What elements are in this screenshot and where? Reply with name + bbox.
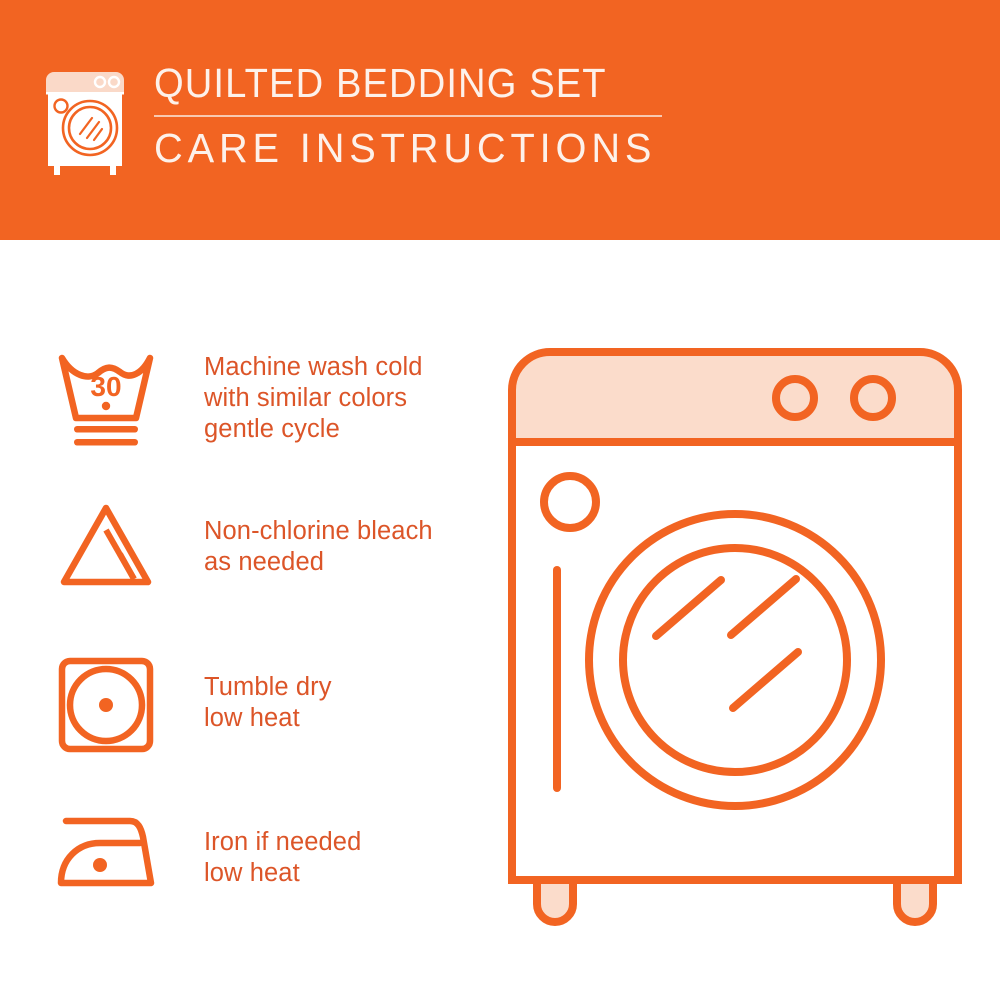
knob-right (854, 379, 892, 417)
care-text-line: Iron if needed (204, 827, 361, 858)
header-band: QUILTED BEDDING SET CARE INSTRUCTIONS (0, 0, 1000, 240)
care-instructions-page: QUILTED BEDDING SET CARE INSTRUCTIONS 30… (0, 0, 1000, 1000)
care-item-machine-wash: 30 Machine wash cold with similar colors… (48, 340, 488, 456)
wash-dot-icon (102, 402, 110, 410)
care-text-line: low heat (204, 703, 332, 734)
washing-machine-icon (40, 66, 136, 178)
header-title-block: QUILTED BEDDING SET CARE INSTRUCTIONS (154, 60, 672, 172)
care-text-line: low heat (204, 858, 361, 889)
page-subtitle: CARE INSTRUCTIONS (154, 124, 656, 172)
gentle-bar-1 (74, 426, 138, 433)
wash-tub-icon: 30 (48, 340, 164, 456)
care-item-label: Non-chlorine bleach as needed (204, 516, 433, 578)
dry-heat-dot-icon (99, 698, 113, 712)
leg-right (897, 880, 933, 922)
care-text-line: with similar colors (204, 383, 423, 414)
care-item-label: Tumble dry low heat (204, 672, 332, 734)
wash-temperature-label: 30 (90, 371, 121, 402)
care-item-label: Iron if needed low heat (204, 827, 361, 889)
care-text-line: Tumble dry (204, 672, 332, 703)
care-text-line: Non-chlorine bleach (204, 516, 433, 547)
washing-machine-illustration (495, 330, 975, 940)
gentle-bar-2 (74, 439, 138, 446)
care-item-label: Machine wash cold with similar colors ge… (204, 352, 423, 445)
care-text-line: as needed (204, 547, 433, 578)
page-title: QUILTED BEDDING SET (154, 60, 636, 106)
care-item-bleach: Non-chlorine bleach as needed (48, 490, 488, 606)
title-divider (154, 115, 662, 117)
detergent-dial (544, 476, 596, 528)
care-text-line: Machine wash cold (204, 352, 423, 383)
iron-heat-dot-icon (93, 858, 107, 872)
tumble-dry-icon (48, 645, 164, 761)
care-item-iron: Iron if needed low heat (48, 797, 488, 913)
care-item-tumble-dry: Tumble dry low heat (48, 645, 488, 761)
header-content: QUILTED BEDDING SET CARE INSTRUCTIONS (40, 60, 672, 178)
leg-left (537, 880, 573, 922)
bleach-triangle-icon (48, 490, 164, 606)
door-inner-ring (623, 548, 847, 772)
care-instruction-list: 30 Machine wash cold with similar colors… (0, 240, 500, 1000)
care-text-line: gentle cycle (204, 414, 423, 445)
iron-icon (48, 797, 164, 913)
knob-left (776, 379, 814, 417)
